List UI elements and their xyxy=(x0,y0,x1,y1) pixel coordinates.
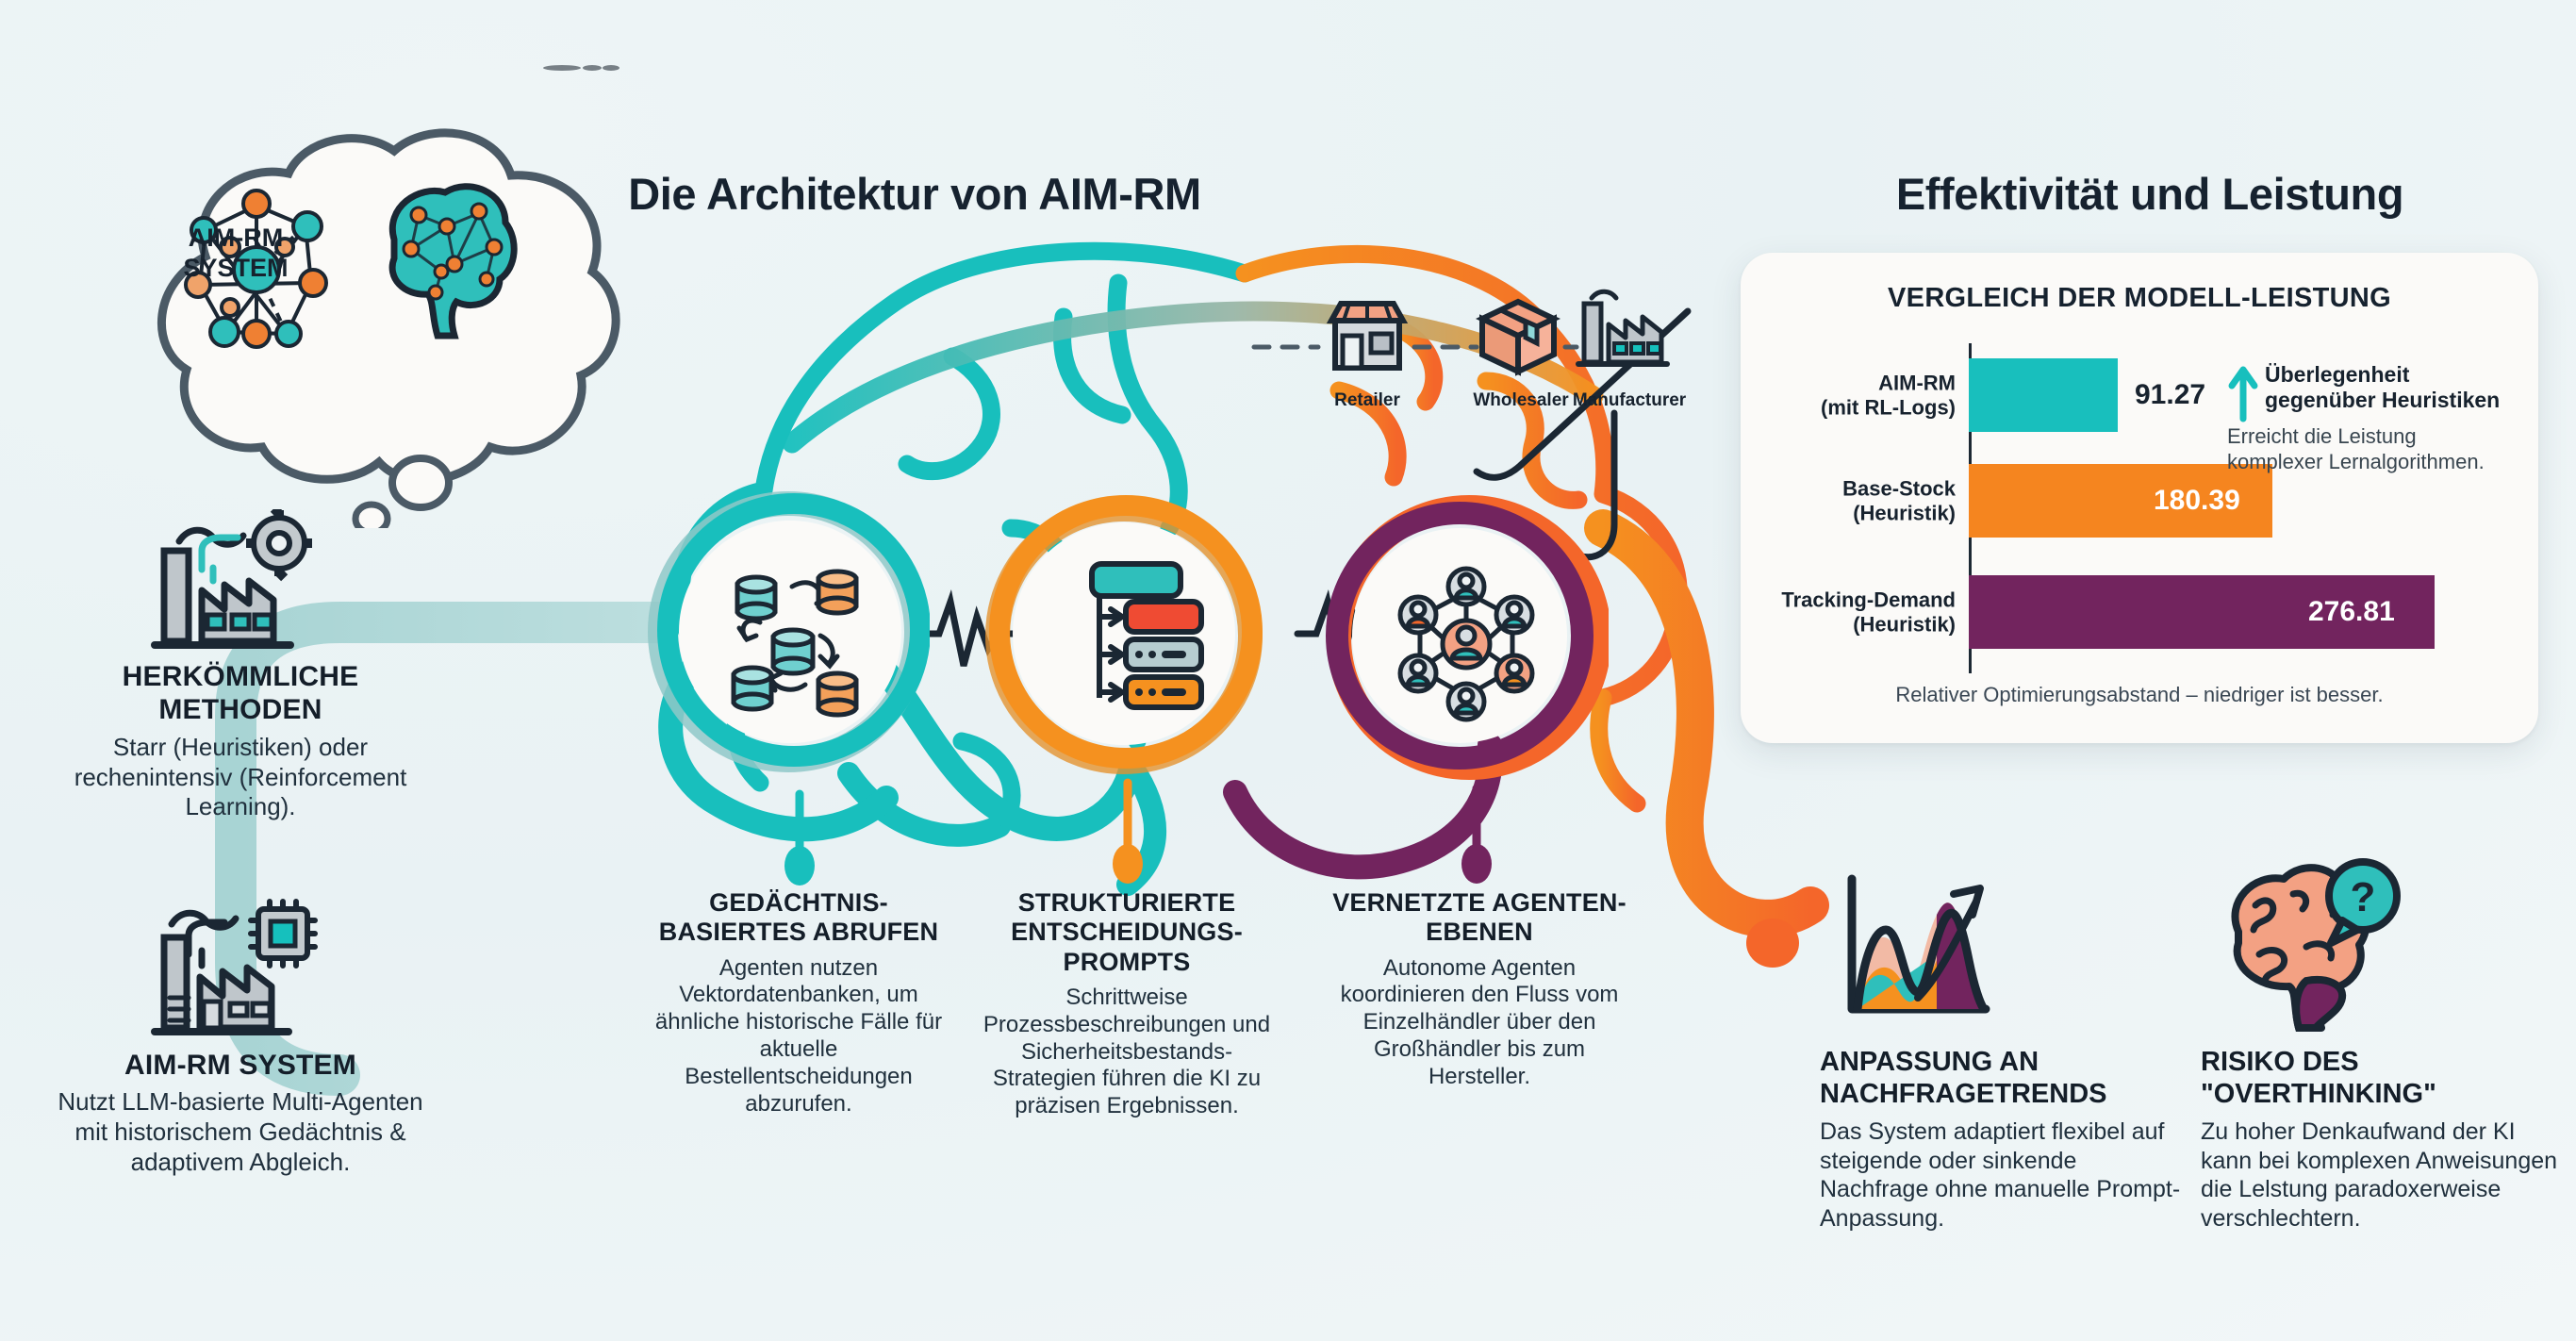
svg-text:?: ? xyxy=(2351,874,2376,920)
stage-caption-1-title: STRUKTURIERTE ENTSCHEIDUNGS-PROMPTS xyxy=(971,888,1282,977)
stage-caption-2: VERNETZTE AGENTEN-EBENEN Autonome Agente… xyxy=(1324,888,1635,1091)
stage-caption-0-body: Agenten nutzen Vektordatenbanken, um ähn… xyxy=(643,955,954,1118)
chart-value-0: 91.27 xyxy=(2135,379,2205,411)
chart-title: VERGLEICH DER MODELL-LEISTUNG xyxy=(1741,283,2538,314)
prompt-list-icon xyxy=(1049,560,1209,717)
stage-caption-1: STRUKTURIERTE ENTSCHEIDUNGS-PROMPTS Schr… xyxy=(971,888,1282,1120)
infographic-canvas: AIM-RM SYSTEM Die Architektur von AIM-RM… xyxy=(0,0,2576,1341)
chart-value-1: 180.39 xyxy=(2154,485,2240,517)
chart-cat-line-2b: (Heuristik) xyxy=(1853,612,1956,636)
storefront-icon xyxy=(1322,292,1412,383)
chart-annotation: Überlegenheit gegenüber Heuristiken Erre… xyxy=(2227,362,2510,474)
factory-gear-icon xyxy=(147,509,326,660)
stage-caption-2-title: VERNETZTE AGENTEN-EBENEN xyxy=(1324,888,1635,948)
bottom-right-block-0: ANPASSUNG AN NACHFRAGETRENDS Das System … xyxy=(1820,1047,2188,1233)
chart-cat-line-0b: (mit RL-Logs) xyxy=(1821,395,1956,419)
left-block-0: HERKÖMMLICHE METHODEN Starr (Heuristiken… xyxy=(57,660,424,822)
left-block-1-body: Nutzt LLM-basierte Multi-Agenten mit his… xyxy=(57,1087,424,1177)
stage-caption-0-title: GEDÄCHTNIS-BASIERTES ABRUFEN xyxy=(643,888,954,948)
page-title-architecture: Die Architektur von AIM-RM xyxy=(490,168,1339,220)
left-block-0-title: HERKÖMMLICHE METHODEN xyxy=(57,660,424,727)
page-title-effectiveness: Effektivität und Leistung xyxy=(1820,168,2480,220)
factory-icon xyxy=(1571,283,1675,383)
agent-network-icon xyxy=(1379,555,1554,730)
factory-chip-icon xyxy=(147,896,326,1047)
bottom-right-block-0-title: ANPASSUNG AN NACHFRAGETRENDS xyxy=(1820,1047,2188,1110)
chart-cat-line-1a: Base-Stock xyxy=(1842,476,1956,500)
up-arrow-icon xyxy=(2227,362,2259,422)
chart-cat-line-2a: Tracking-Demand xyxy=(1781,588,1956,611)
chart-cat-line-1b: (Heuristik) xyxy=(1853,501,1956,524)
chart-bar-0 xyxy=(1969,358,2118,432)
bottom-right-block-1-body: Zu hoher Denkaufwand der KI kann bei kom… xyxy=(2201,1117,2568,1233)
bottom-right-block-1: RISIKO DES "OVERTHINKING" Zu hoher Denka… xyxy=(2201,1047,2568,1233)
bottom-right-block-0-body: Das System adaptiert flexibel auf steige… xyxy=(1820,1117,2188,1233)
stage-caption-0: GEDÄCHTNIS-BASIERTES ABRUFEN Agenten nut… xyxy=(643,888,954,1117)
left-block-0-body: Starr (Heuristiken) oder rechenintensiv … xyxy=(57,733,424,822)
chart-category-1: Base-Stock (Heuristik) xyxy=(1842,476,1956,524)
chart-cat-line-0a: AIM-RM xyxy=(1878,371,1956,394)
bubble-label: AIM-RM SYSTEM xyxy=(151,223,321,284)
database-cycle-icon xyxy=(705,545,884,724)
brain-question-icon: ? xyxy=(2201,856,2403,1035)
package-box-icon xyxy=(1471,289,1565,383)
demand-trend-chart-icon xyxy=(1820,856,2018,1035)
chart-category-0: AIM-RM (mit RL-Logs) AIM-RM (mit RL-Logs… xyxy=(1821,371,1956,419)
supply-chain-label-2: Manufacturer xyxy=(1554,390,1705,411)
left-block-1-title: AIM-RM SYSTEM xyxy=(57,1049,424,1082)
chart-footnote: Relativer Optimierungsabstand – niedrige… xyxy=(1741,683,2538,707)
stage-caption-1-body: Schrittweise Prozessbeschreibungen und S… xyxy=(971,985,1282,1120)
stage-caption-2-body: Autonome Agenten koordinieren den Fluss … xyxy=(1324,955,1635,1091)
chart-value-2: 276.81 xyxy=(2308,596,2395,628)
chart-category-2: Tracking-Demand (Heuristik) xyxy=(1781,588,1956,636)
left-block-1: AIM-RM SYSTEM Nutzt LLM-basierte Multi-A… xyxy=(57,1049,424,1178)
supply-chain-label-0: Retailer xyxy=(1311,390,1424,411)
model-performance-card: VERGLEICH DER MODELL-LEISTUNG AIM-RM (mi… xyxy=(1741,253,2538,743)
bottom-right-block-1-title: RISIKO DES "OVERTHINKING" xyxy=(2201,1047,2568,1110)
chart-annotation-body: Erreicht die Leistung komplexer Lernalgo… xyxy=(2227,424,2510,474)
chart-annotation-title: Überlegenheit gegenüber Heuristiken xyxy=(2227,362,2510,413)
